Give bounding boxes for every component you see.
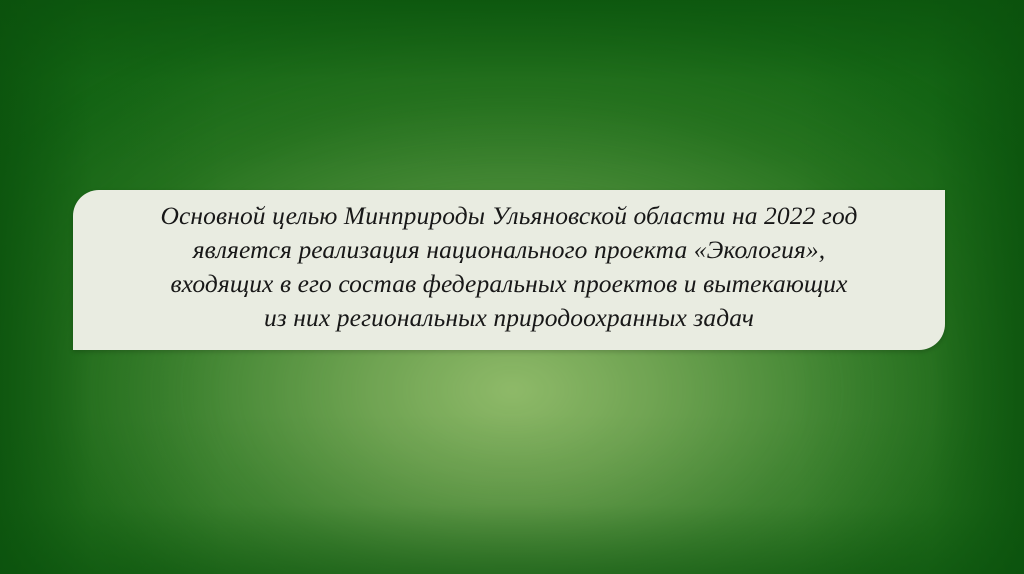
slide-body-text: Основной целью Минприроды Ульяновской об… (161, 199, 858, 335)
presentation-slide: Основной целью Минприроды Ульяновской об… (0, 0, 1024, 574)
text-content-card: Основной целью Минприроды Ульяновской об… (73, 190, 945, 350)
